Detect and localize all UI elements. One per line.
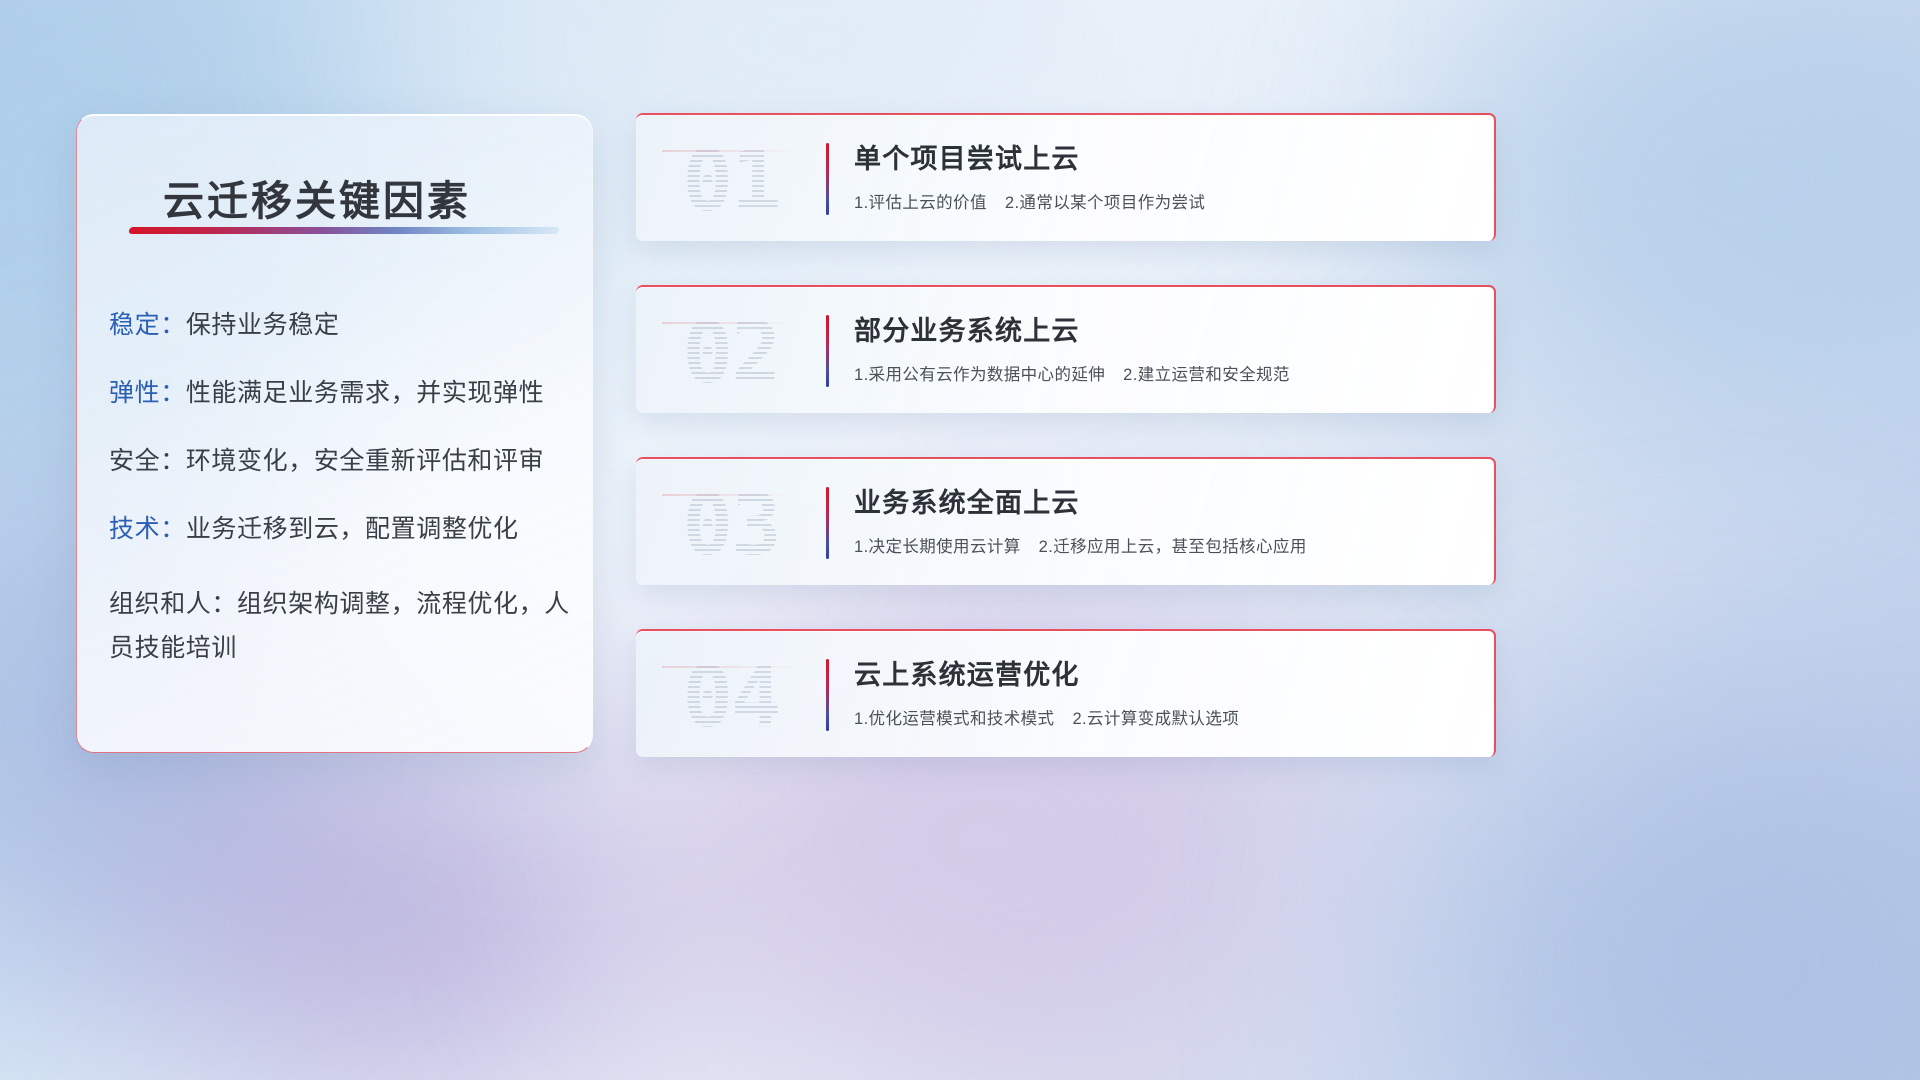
card-accent-bar (826, 315, 829, 387)
card-title: 单个项目尝试上云 (854, 137, 1470, 176)
card-description: 1.优化运营模式和技术模式2.云计算变成默认选项 (854, 705, 1470, 729)
factor-key: 安全： (109, 447, 186, 475)
factor-item: 稳定：保持业务稳定 (109, 311, 570, 340)
stage-card[interactable]: 02 部分业务系统上云 1.采用公有云作为数据中心的延伸2.建立运营和安全规范 (636, 285, 1496, 413)
card-description: 1.评估上云的价值2.通常以某个项目作为尝试 (854, 189, 1470, 213)
card-desc-part: 2.建立运营和安全规范 (1123, 366, 1290, 384)
factor-item: 技术：业务迁移到云，配置调整优化 (109, 515, 570, 544)
card-border-fade (636, 457, 866, 460)
factor-item: 组织和人：组织架构调整，流程优化，人员技能培训 (109, 583, 570, 671)
card-body: 云上系统运营优化 1.优化运营模式和技术模式2.云计算变成默认选项 (854, 653, 1470, 729)
card-desc-part: 1.采用公有云作为数据中心的延伸 (854, 366, 1105, 384)
panel-title: 云迁移关键因素 (163, 167, 471, 227)
card-body: 单个项目尝试上云 1.评估上云的价值2.通常以某个项目作为尝试 (854, 137, 1470, 213)
factor-value: 保持业务稳定 (186, 311, 340, 339)
factor-item: 弹性：性能满足业务需求，并实现弹性 (109, 379, 570, 408)
factor-value: 性能满足业务需求，并实现弹性 (186, 379, 544, 407)
slide-stage: 云迁移关键因素 稳定：保持业务稳定 弹性：性能满足业务需求，并实现弹性 安全：环… (0, 0, 1920, 1080)
factor-list: 稳定：保持业务稳定 弹性：性能满足业务需求，并实现弹性 安全：环境变化，安全重新… (109, 311, 570, 671)
card-title: 云上系统运营优化 (854, 653, 1470, 692)
card-description: 1.决定长期使用云计算2.迁移应用上云，甚至包括核心应用 (854, 533, 1470, 557)
card-body: 业务系统全面上云 1.决定长期使用云计算2.迁移应用上云，甚至包括核心应用 (854, 481, 1470, 557)
factor-item: 安全：环境变化，安全重新评估和评审 (109, 447, 570, 476)
card-desc-part: 2.通常以某个项目作为尝试 (1005, 194, 1205, 212)
card-border-fade (636, 285, 866, 288)
stage-card[interactable]: 01 单个项目尝试上云 1.评估上云的价值2.通常以某个项目作为尝试 (636, 113, 1496, 241)
stage-number-glyph: 03 (658, 479, 804, 571)
stage-card[interactable]: 04 云上系统运营优化 1.优化运营模式和技术模式2.云计算变成默认选项 (636, 629, 1496, 757)
factor-key: 稳定： (109, 311, 186, 339)
card-desc-part: 2.云计算变成默认选项 (1072, 710, 1239, 728)
factor-key: 组织和人： (109, 590, 237, 618)
card-title: 部分业务系统上云 (854, 309, 1470, 348)
card-border-fade (636, 629, 866, 632)
card-accent-bar (826, 659, 829, 731)
card-desc-part: 2.迁移应用上云，甚至包括核心应用 (1039, 538, 1307, 556)
card-desc-part: 1.优化运营模式和技术模式 (854, 710, 1054, 728)
card-accent-bar (826, 487, 829, 559)
stage-card-list: 01 单个项目尝试上云 1.评估上云的价值2.通常以某个项目作为尝试 02 部分… (636, 113, 1496, 757)
stage-number-glyph: 04 (658, 651, 804, 743)
stage-card[interactable]: 03 业务系统全面上云 1.决定长期使用云计算2.迁移应用上云，甚至包括核心应用 (636, 457, 1496, 585)
card-border-fade (636, 113, 866, 116)
stage-number-glyph: 01 (658, 135, 804, 227)
factor-value: 业务迁移到云，配置调整优化 (186, 515, 519, 543)
card-desc-part: 1.决定长期使用云计算 (854, 538, 1021, 556)
key-factors-panel: 云迁移关键因素 稳定：保持业务稳定 弹性：性能满足业务需求，并实现弹性 安全：环… (76, 114, 593, 753)
card-body: 部分业务系统上云 1.采用公有云作为数据中心的延伸2.建立运营和安全规范 (854, 309, 1470, 385)
stage-number-glyph: 02 (658, 307, 804, 399)
factor-key: 技术： (109, 515, 186, 543)
card-desc-part: 1.评估上云的价值 (854, 194, 987, 212)
card-accent-bar (826, 143, 829, 215)
factor-key: 弹性： (109, 379, 186, 407)
factor-value: 环境变化，安全重新评估和评审 (186, 447, 544, 475)
card-description: 1.采用公有云作为数据中心的延伸2.建立运营和安全规范 (854, 361, 1470, 385)
card-title: 业务系统全面上云 (854, 481, 1470, 520)
title-underline-gradient (128, 227, 559, 234)
